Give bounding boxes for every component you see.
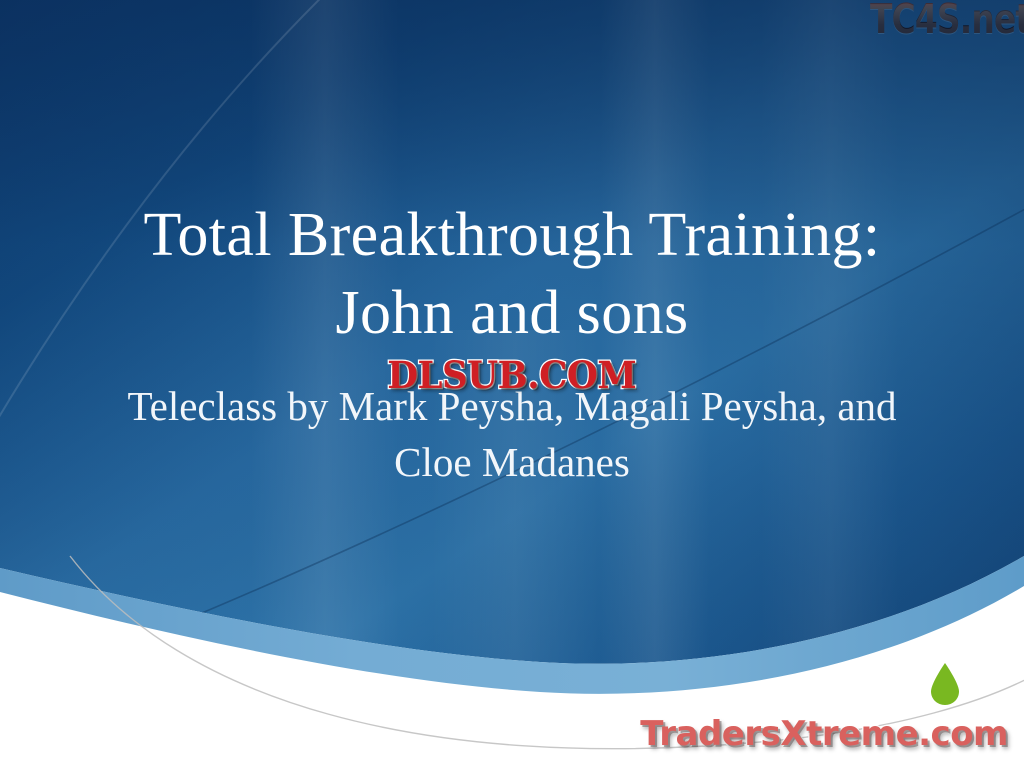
droplet-icon	[928, 662, 962, 706]
watermark-tc4s: TC4S.net	[870, 0, 1024, 42]
title-line-1: Total Breakthrough Training:	[40, 196, 984, 274]
presentation-slide: Total Breakthrough Training: John and so…	[0, 0, 1024, 768]
title-line-2: John and sons	[40, 274, 984, 352]
subtitle-line-2: Cloe Madanes	[30, 434, 994, 490]
subtitle-line-1: Teleclass by Mark Peysha, Magali Peysha,…	[30, 378, 994, 434]
watermark-tradersxtreme: TradersXtreme.com	[640, 714, 1008, 754]
slide-subtitle: Teleclass by Mark Peysha, Magali Peysha,…	[30, 378, 994, 490]
slide-title: Total Breakthrough Training: John and so…	[40, 196, 984, 352]
